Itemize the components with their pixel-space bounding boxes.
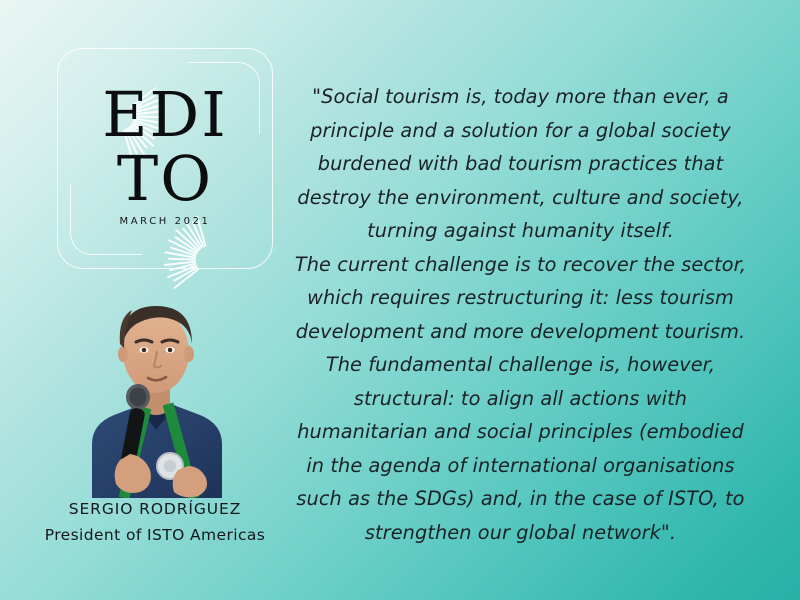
quote-line: development and more development tourism… [268, 315, 773, 349]
speaker-role: President of ISTO Americas [0, 526, 310, 544]
ear-right-shape [184, 346, 194, 362]
quote-text: "Social tourism is, today more than ever… [268, 80, 773, 549]
starburst-icon-bottom-right [209, 260, 211, 262]
quote-line: structural: to align all actions with [268, 382, 773, 416]
quote-line: principle and a solution for a global so… [268, 114, 773, 148]
quote-line: in the agenda of international organisat… [268, 449, 773, 483]
quote-line: The fundamental challenge is, however, [268, 348, 773, 382]
quote-line: humanitarian and social principles (embo… [268, 415, 773, 449]
editorial-quote-card: EDI TO MARCH 2021 [0, 0, 800, 600]
quote-line: burdened with bad tourism practices that [268, 147, 773, 181]
quote-line: such as the SDGs) and, in the case of IS… [268, 482, 773, 516]
quote-line: which requires restructuring it: less to… [268, 281, 773, 315]
quote-line: The current challenge is to recover the … [268, 248, 773, 282]
quote-line: destroy the environment, culture and soc… [268, 181, 773, 215]
edito-badge: EDI TO MARCH 2021 [57, 48, 273, 269]
badge-date: MARCH 2021 [57, 216, 273, 227]
badge-title-line2: TO [57, 150, 273, 207]
speaker-name: SERGIO RODRÍGUEZ [0, 500, 310, 518]
speaker-photo [62, 284, 250, 498]
quote-line: strengthen our global network". [268, 516, 773, 550]
quote-line: "Social tourism is, today more than ever… [268, 80, 773, 114]
badge-title: EDI TO [57, 86, 273, 207]
quote-line: turning against humanity itself. [268, 214, 773, 248]
ear-left-shape [118, 346, 128, 362]
badge-title-line1: EDI [57, 86, 273, 143]
